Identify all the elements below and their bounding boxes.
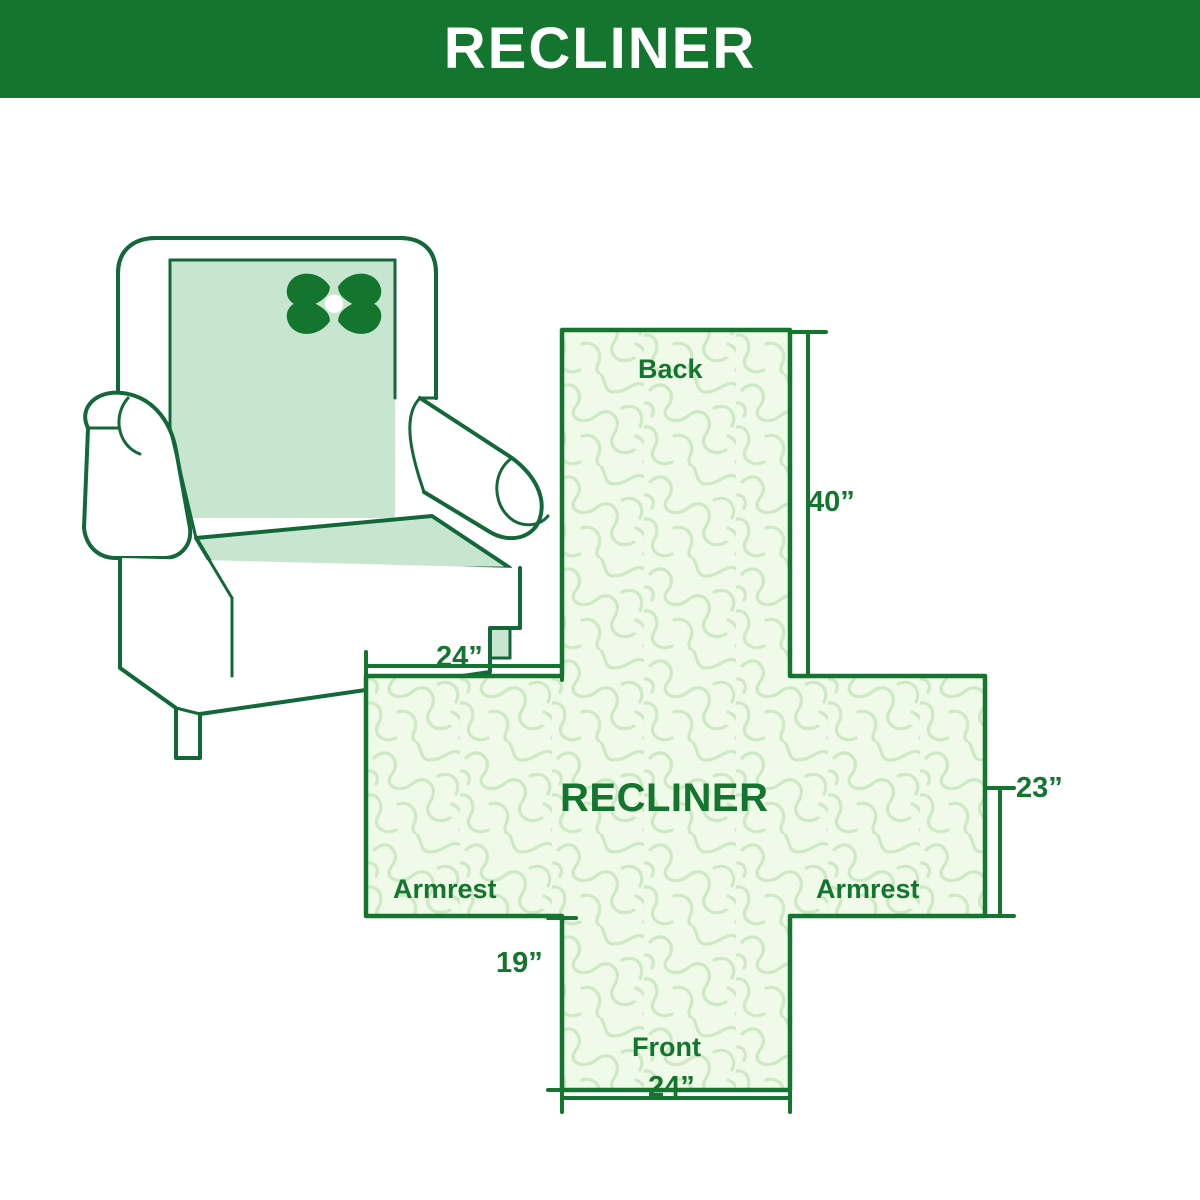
label-armrest-left: Armrest [393, 876, 497, 903]
diagram-svg [0, 98, 1200, 1200]
dimension-top-width: 24” [436, 643, 483, 672]
label-armrest-right: Armrest [816, 876, 920, 903]
header-bar: RECLINER [0, 0, 1200, 98]
diagram-canvas: Back Armrest Armrest Front RECLINER 40” … [0, 98, 1200, 1200]
label-recliner-center: RECLINER [560, 778, 768, 818]
page-title: RECLINER [444, 20, 756, 78]
dimension-seat-depth: 23” [1016, 774, 1063, 803]
label-back: Back [638, 356, 703, 383]
label-front: Front [632, 1034, 701, 1061]
dimension-back-height: 40” [808, 488, 855, 517]
dimension-front-height: 19” [496, 949, 543, 978]
dimension-front-width: 24” [648, 1073, 695, 1102]
